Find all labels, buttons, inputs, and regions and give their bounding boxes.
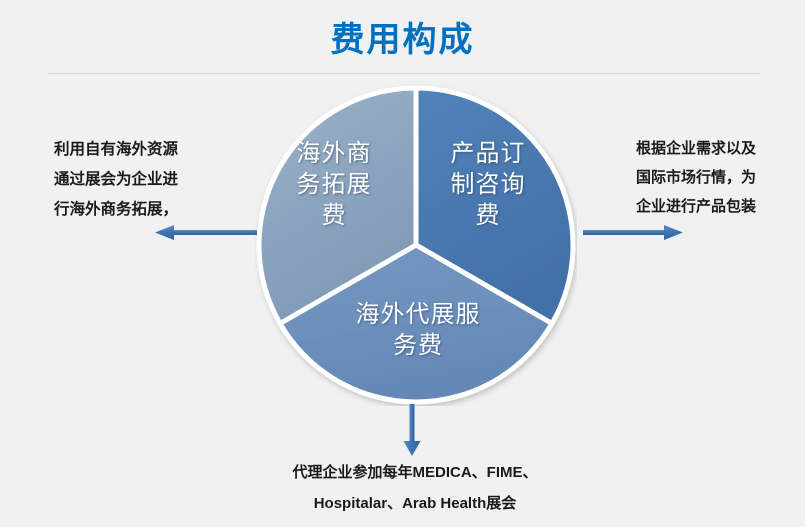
callout-text-left: 利用自有海外资源 通过展会为企业进 行海外商务拓展， xyxy=(54,135,250,225)
infographic-canvas: 费用构成 xyxy=(0,0,805,527)
arrow-right-icon xyxy=(583,225,683,241)
callout-text-bottom: 代理企业参加每年MEDICA、FIME、 Hospitalar、Arab Hea… xyxy=(250,457,580,519)
pie-chart xyxy=(255,84,577,406)
arrow-down-icon xyxy=(400,404,424,456)
callout-text-right: 根据企业需求以及 国际市场行情，为 企业进行产品包装 xyxy=(596,134,796,221)
page-title: 费用构成 xyxy=(0,18,805,62)
arrow-left-icon xyxy=(155,225,257,241)
title-divider xyxy=(48,73,760,74)
